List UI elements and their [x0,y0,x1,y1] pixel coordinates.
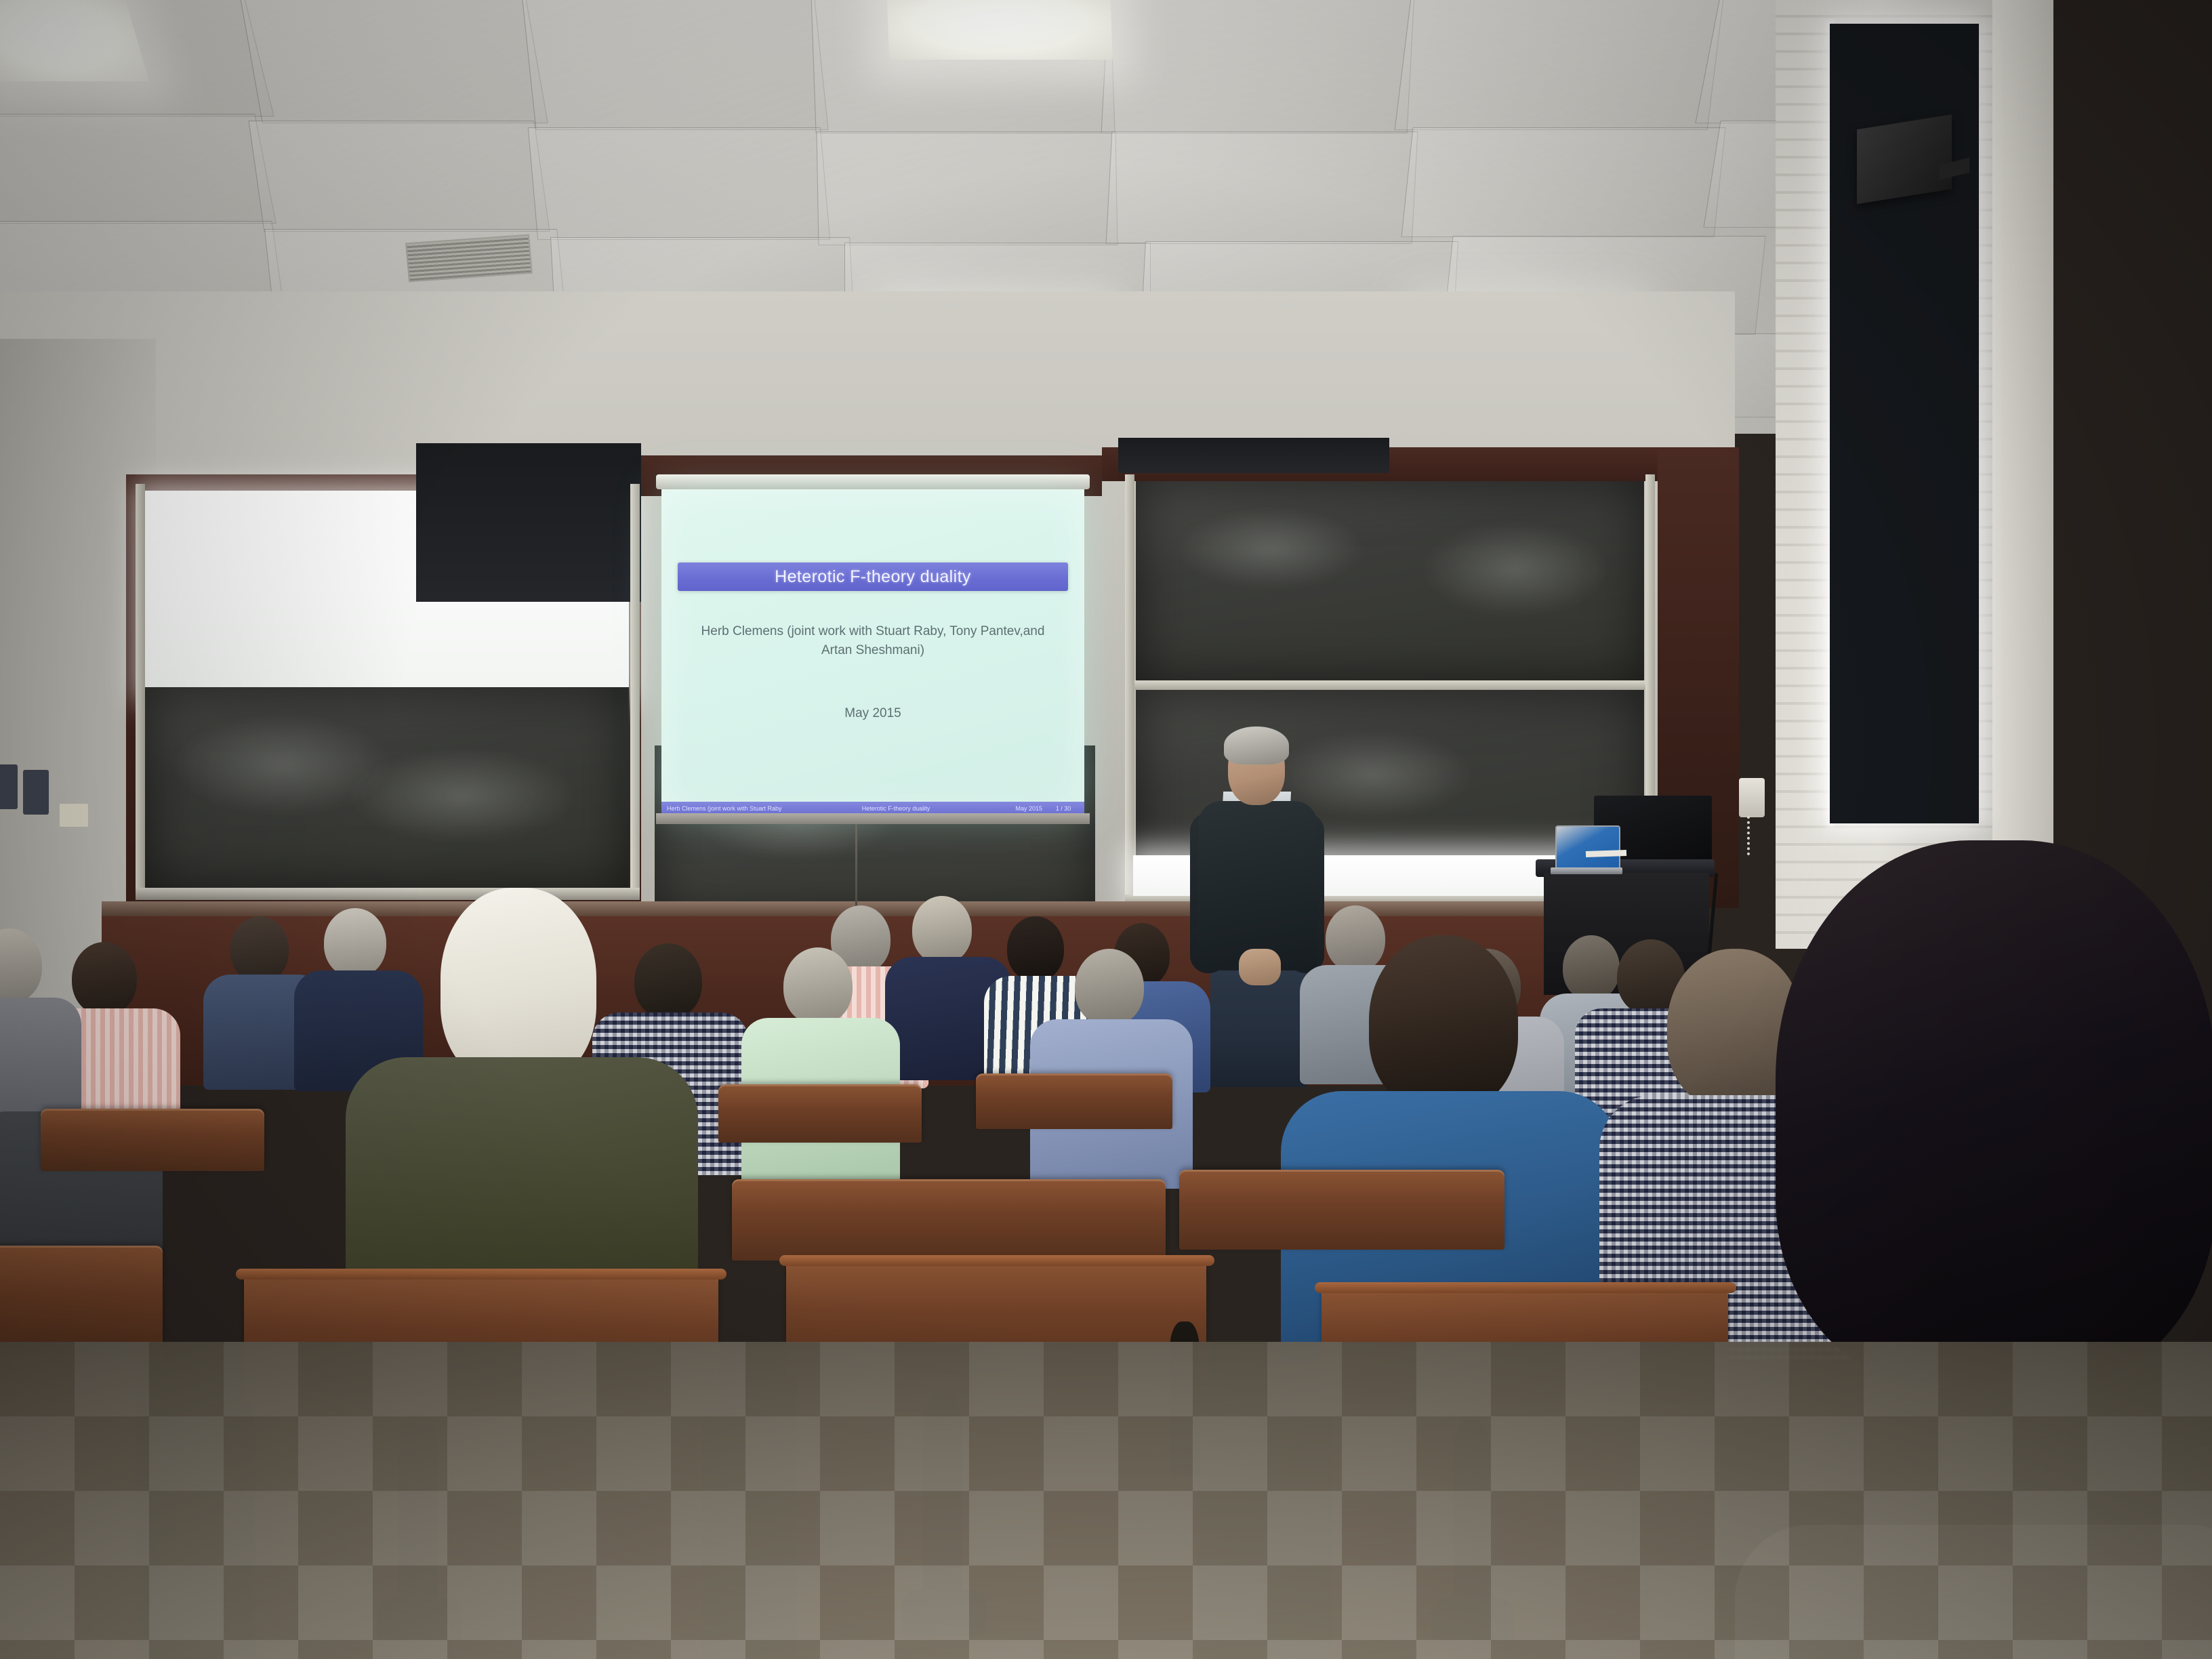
light-switch-plate[interactable] [23,770,49,815]
slide-date: May 2015 [691,706,1054,721]
bench-cap-rail [1315,1282,1736,1293]
bench-seat-back[interactable] [41,1109,264,1171]
outlet-plate [60,804,88,827]
ceiling-light-panel [0,0,149,81]
bench-seat-back[interactable] [1179,1170,1504,1250]
slide-title-bar: Heterotic F-theory duality [678,562,1068,591]
lecture-hall-photo: Heterotic F-theory duality Herb Clemens … [0,0,2212,1659]
board-rail [1125,474,1134,895]
light-switch-plate[interactable] [0,764,18,809]
slide-authors: Herb Clemens (joint work with Stuart Rab… [691,622,1054,659]
bench-cap-rail [779,1255,1214,1266]
bench-seat-back[interactable] [718,1084,922,1143]
screen-pull-cord[interactable] [855,824,857,912]
screen-roller-housing[interactable] [656,474,1090,489]
laptop-keyboard-base[interactable] [1551,867,1622,874]
wall-phone-icon[interactable] [1739,778,1765,817]
left-window-shade[interactable] [416,443,641,602]
board-rail [1130,680,1650,690]
presenter-hair [1224,726,1289,764]
ceiling-light-panel [886,0,1113,60]
phone-cord [1747,816,1759,855]
bench-cap-rail [236,1269,726,1279]
wall-speaker-icon [1857,115,1952,204]
footer-page-number: 1 / 30 [1042,805,1084,812]
presenter-hands [1239,949,1281,985]
bench-seat-back[interactable] [732,1179,1166,1261]
footer-author: Herb Clemens (joint work with Stuart Rab… [661,805,800,812]
footer-date: May 2015 [992,805,1042,812]
presenter-sweater [1198,801,1317,970]
bench-seat-back[interactable] [976,1073,1172,1129]
footer-title: Heterotic F-theory duality [800,805,992,812]
slide-title: Heterotic F-theory duality [775,567,971,587]
right-blackboard-upper [1136,481,1644,684]
chalk-tray [136,888,640,900]
projection-screen: Heterotic F-theory duality Herb Clemens … [661,489,1084,815]
board-rail [630,484,640,899]
screen-bottom-bar [656,813,1090,824]
center-window-shade[interactable] [1118,438,1389,473]
board-rail [136,484,145,899]
left-blackboard [144,687,629,890]
floor-shading [0,1342,2212,1659]
